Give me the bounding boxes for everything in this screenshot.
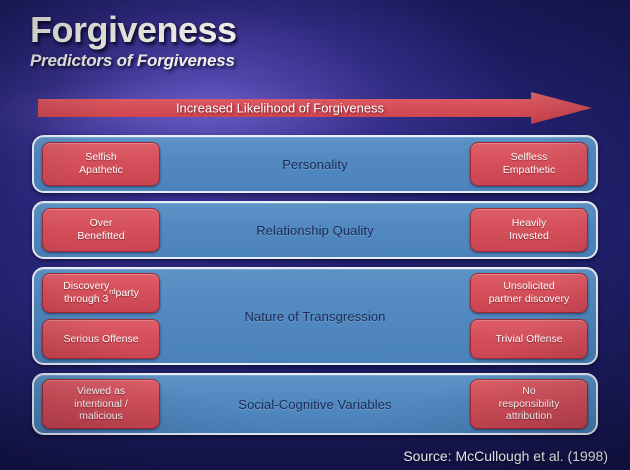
row-left-anchors: OverBenefitted: [42, 208, 160, 252]
row-left-anchors: Viewed asintentional /malicious: [42, 379, 160, 429]
row-right-anchors: Unsolicitedpartner discoveryTrivial Offe…: [470, 273, 588, 359]
predictor-row: Discoverythrough 3rd partySerious Offens…: [32, 267, 598, 365]
row-right-anchors: Noresponsibilityattribution: [470, 379, 588, 429]
predictor-row: Viewed asintentional /maliciousSocial-Co…: [32, 373, 598, 435]
predictor-label: Relationship Quality: [160, 223, 470, 238]
anchor-chip-right: Unsolicitedpartner discovery: [470, 273, 588, 313]
predictor-row: SelfishApatheticPersonalitySelflessEmpat…: [32, 135, 598, 193]
row-right-anchors: SelflessEmpathetic: [470, 142, 588, 186]
slide-header: Forgiveness Predictors of Forgiveness: [30, 12, 237, 71]
slide-canvas: Forgiveness Predictors of Forgiveness In…: [0, 0, 630, 470]
anchor-chip-right: Trivial Offense: [470, 319, 588, 359]
anchor-chip-left: Viewed asintentional /malicious: [42, 379, 160, 429]
likelihood-arrow: Increased Likelihood of Forgiveness: [38, 92, 592, 124]
predictor-label: Social-Cognitive Variables: [160, 397, 470, 412]
row-left-anchors: SelfishApathetic: [42, 142, 160, 186]
predictor-rows: SelfishApatheticPersonalitySelflessEmpat…: [32, 135, 598, 443]
anchor-chip-right: SelflessEmpathetic: [470, 142, 588, 186]
row-right-anchors: HeavilyInvested: [470, 208, 588, 252]
predictor-label: Nature of Transgression: [160, 309, 470, 324]
anchor-chip-left: Serious Offense: [42, 319, 160, 359]
predictor-label: Personality: [160, 157, 470, 172]
arrow-label: Increased Likelihood of Forgiveness: [38, 101, 522, 116]
row-left-anchors: Discoverythrough 3rd partySerious Offens…: [42, 273, 160, 359]
anchor-chip-left: Discoverythrough 3rd party: [42, 273, 160, 313]
anchor-chip-right: HeavilyInvested: [470, 208, 588, 252]
predictor-row: OverBenefittedRelationship QualityHeavil…: [32, 201, 598, 259]
anchor-chip-left: OverBenefitted: [42, 208, 160, 252]
page-title: Forgiveness: [30, 12, 237, 49]
source-citation: Source: McCullough et al. (1998): [403, 448, 608, 464]
anchor-chip-right: Noresponsibilityattribution: [470, 379, 588, 429]
page-subtitle: Predictors of Forgiveness: [30, 51, 237, 71]
anchor-chip-left: SelfishApathetic: [42, 142, 160, 186]
